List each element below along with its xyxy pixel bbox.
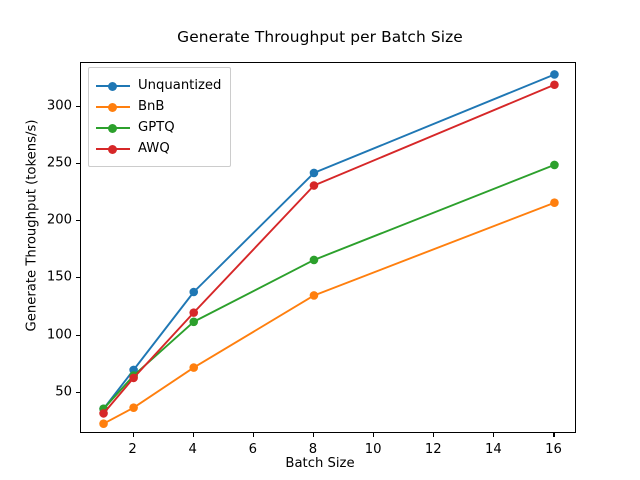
y-axis-tick-label: 100 bbox=[18, 327, 72, 342]
y-axis-tick-label: 250 bbox=[18, 155, 72, 170]
data-point-marker bbox=[310, 291, 319, 300]
data-point-marker bbox=[129, 374, 138, 383]
data-point-marker bbox=[129, 403, 138, 412]
series-bnb bbox=[99, 198, 559, 428]
series-gptq bbox=[99, 161, 559, 414]
legend-swatch-icon bbox=[96, 142, 130, 156]
data-point-marker bbox=[550, 70, 559, 79]
x-axis-tick-label: 10 bbox=[365, 442, 382, 457]
legend-swatch-icon bbox=[96, 121, 130, 135]
legend-item-awq[interactable]: AWQ bbox=[96, 138, 221, 159]
data-point-marker bbox=[310, 169, 319, 178]
data-point-marker bbox=[550, 161, 559, 170]
x-axis-tick-label: 6 bbox=[249, 442, 257, 457]
x-axis-tick-label: 14 bbox=[485, 442, 502, 457]
x-axis-tick-label: 12 bbox=[425, 442, 442, 457]
legend-item-bnb[interactable]: BnB bbox=[96, 96, 221, 117]
legend-label: GPTQ bbox=[138, 120, 175, 135]
x-axis-label: Batch Size bbox=[0, 456, 640, 471]
y-axis-tick-label: 150 bbox=[18, 270, 72, 285]
x-axis-tick-label: 8 bbox=[309, 442, 317, 457]
chart-figure: Generate Throughput per Batch Size Gener… bbox=[0, 0, 640, 480]
series-line bbox=[104, 165, 555, 409]
legend-label: BnB bbox=[138, 99, 164, 114]
series-line bbox=[104, 203, 555, 424]
legend-item-gptq[interactable]: GPTQ bbox=[96, 117, 221, 138]
data-point-marker bbox=[189, 363, 198, 372]
x-axis-tick-label: 2 bbox=[128, 442, 136, 457]
legend-item-unquantized[interactable]: Unquantized bbox=[96, 75, 221, 96]
data-point-marker bbox=[550, 80, 559, 89]
chart-title: Generate Throughput per Batch Size bbox=[0, 28, 640, 46]
data-point-marker bbox=[189, 288, 198, 297]
x-axis-tick-label: 4 bbox=[189, 442, 197, 457]
data-point-marker bbox=[310, 181, 319, 190]
legend-swatch-icon bbox=[96, 79, 130, 93]
legend-label: Unquantized bbox=[138, 78, 221, 93]
y-axis-tick-label: 200 bbox=[18, 213, 72, 228]
y-axis-tick-label: 300 bbox=[18, 98, 72, 113]
y-axis-tick-label: 50 bbox=[18, 384, 72, 399]
data-point-marker bbox=[189, 308, 198, 317]
legend-swatch-icon bbox=[96, 100, 130, 114]
data-point-marker bbox=[99, 419, 108, 428]
data-point-marker bbox=[310, 256, 319, 265]
data-point-marker bbox=[99, 409, 108, 418]
legend-label: AWQ bbox=[138, 141, 170, 156]
chart-legend: UnquantizedBnBGPTQAWQ bbox=[88, 67, 231, 167]
x-axis-tick-label: 16 bbox=[545, 442, 562, 457]
data-point-marker bbox=[550, 198, 559, 207]
data-point-marker bbox=[189, 317, 198, 326]
